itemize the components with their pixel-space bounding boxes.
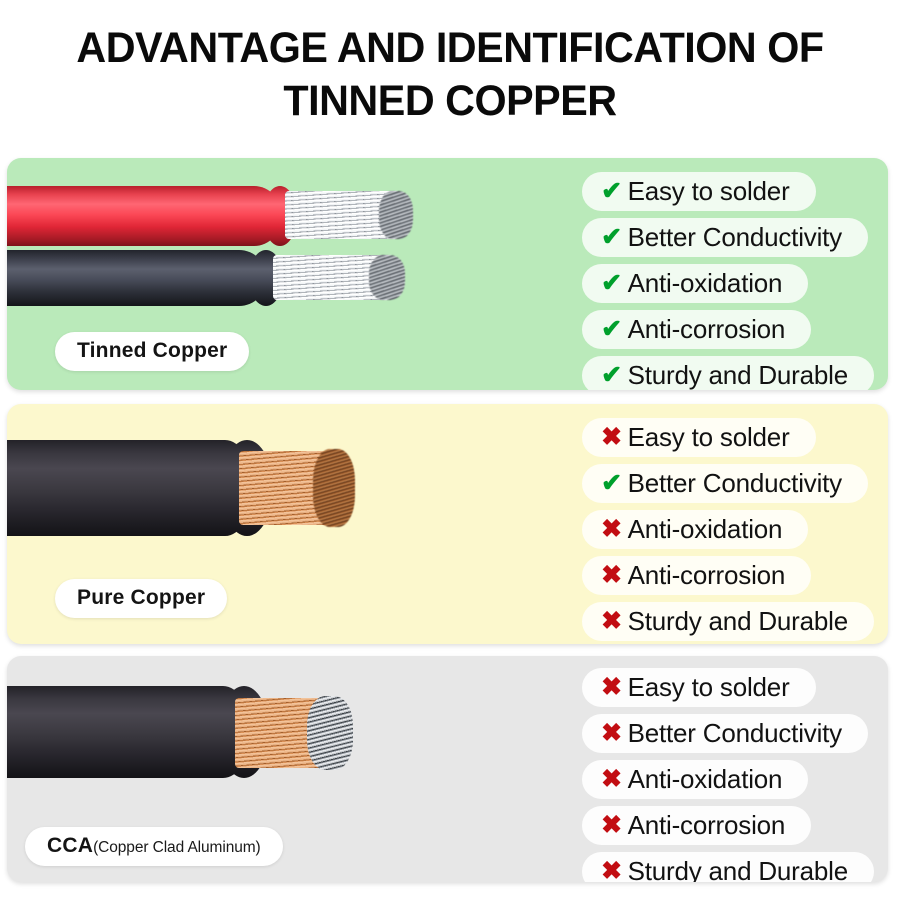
- feature-row: ✖ Sturdy and Durable: [582, 602, 874, 641]
- material-badge-pure-copper: Pure Copper: [55, 579, 227, 618]
- material-badge-subtext: (Copper Clad Aluminum): [93, 839, 261, 857]
- cross-icon: ✖: [596, 675, 628, 700]
- black-cable-strand-tip: [369, 255, 405, 300]
- cross-icon: ✖: [596, 859, 628, 883]
- feature-label: Better Conductivity: [628, 717, 842, 749]
- material-badge-name: Pure Copper: [77, 586, 205, 610]
- cross-icon: ✖: [596, 563, 628, 588]
- feature-label: Easy to solder: [628, 671, 790, 703]
- feature-label: Better Conductivity: [628, 221, 842, 253]
- check-icon: ✔: [596, 179, 628, 204]
- check-icon: ✔: [596, 363, 628, 388]
- pure-copper-strand-tip: [313, 449, 355, 527]
- feature-list-cca: ✖ Easy to solder ✖ Better Conductivity ✖…: [582, 668, 874, 882]
- feature-row: ✔ Easy to solder: [582, 172, 816, 211]
- red-cable-jacket: [7, 186, 282, 246]
- cross-icon: ✖: [596, 721, 628, 746]
- feature-row: ✖ Sturdy and Durable: [582, 852, 874, 882]
- feature-list-pure-copper: ✖ Easy to solder ✔ Better Conductivity ✖…: [582, 418, 874, 644]
- black-cable-jacket: [7, 250, 267, 306]
- feature-row: ✖ Better Conductivity: [582, 714, 868, 753]
- feature-label: Anti-corrosion: [628, 559, 786, 591]
- cca-aluminum-core-tip: [307, 696, 353, 770]
- feature-label: Anti-corrosion: [628, 809, 786, 841]
- feature-row: ✖ Anti-oxidation: [582, 510, 809, 549]
- feature-label: Sturdy and Durable: [628, 605, 848, 637]
- feature-row: ✖ Anti-oxidation: [582, 760, 809, 799]
- pure-copper-cable-jacket: [7, 440, 253, 536]
- red-cable-strand-tip: [379, 191, 413, 239]
- feature-row: ✔ Better Conductivity: [582, 464, 868, 503]
- check-icon: ✔: [596, 471, 628, 496]
- feature-list-tinned-copper: ✔ Easy to solder ✔ Better Conductivity ✔…: [582, 172, 874, 390]
- feature-label: Sturdy and Durable: [628, 855, 848, 882]
- cross-icon: ✖: [596, 609, 628, 634]
- feature-label: Anti-oxidation: [628, 763, 783, 795]
- panel-tinned-copper: Tinned Copper ✔ Easy to solder ✔ Better …: [7, 158, 888, 390]
- material-badge-tinned-copper: Tinned Copper: [55, 332, 249, 371]
- feature-label: Easy to solder: [628, 175, 790, 207]
- feature-label: Easy to solder: [628, 421, 790, 453]
- feature-label: Better Conductivity: [628, 467, 842, 499]
- feature-row: ✔ Anti-corrosion: [582, 310, 812, 349]
- feature-label: Sturdy and Durable: [628, 359, 848, 390]
- cross-icon: ✖: [596, 813, 628, 838]
- check-icon: ✔: [596, 271, 628, 296]
- cross-icon: ✖: [596, 425, 628, 450]
- feature-row: ✔ Better Conductivity: [582, 218, 868, 257]
- feature-row: ✔ Sturdy and Durable: [582, 356, 874, 390]
- feature-row: ✔ Anti-oxidation: [582, 264, 809, 303]
- feature-row: ✖ Easy to solder: [582, 668, 816, 707]
- material-badge-name: Tinned Copper: [77, 339, 227, 363]
- cross-icon: ✖: [596, 767, 628, 792]
- cross-icon: ✖: [596, 517, 628, 542]
- feature-label: Anti-oxidation: [628, 267, 783, 299]
- material-badge-name: CCA: [47, 834, 93, 858]
- feature-row: ✖ Anti-corrosion: [582, 556, 812, 595]
- title-line-2: TINNED COPPER: [18, 75, 882, 128]
- check-icon: ✔: [596, 225, 628, 250]
- feature-label: Anti-oxidation: [628, 513, 783, 545]
- check-icon: ✔: [596, 317, 628, 342]
- cca-cable-jacket: [7, 686, 251, 778]
- panel-cca: CCA (Copper Clad Aluminum) ✖ Easy to sol…: [7, 656, 888, 882]
- title-line-1: ADVANTAGE AND IDENTIFICATION OF: [18, 22, 882, 75]
- page-title: ADVANTAGE AND IDENTIFICATION OF TINNED C…: [0, 22, 900, 128]
- infographic-root: ADVANTAGE AND IDENTIFICATION OF TINNED C…: [0, 0, 900, 900]
- feature-label: Anti-corrosion: [628, 313, 786, 345]
- material-badge-cca: CCA (Copper Clad Aluminum): [25, 827, 283, 866]
- feature-row: ✖ Anti-corrosion: [582, 806, 812, 845]
- feature-row: ✖ Easy to solder: [582, 418, 816, 457]
- panel-pure-copper: Pure Copper ✖ Easy to solder ✔ Better Co…: [7, 404, 888, 644]
